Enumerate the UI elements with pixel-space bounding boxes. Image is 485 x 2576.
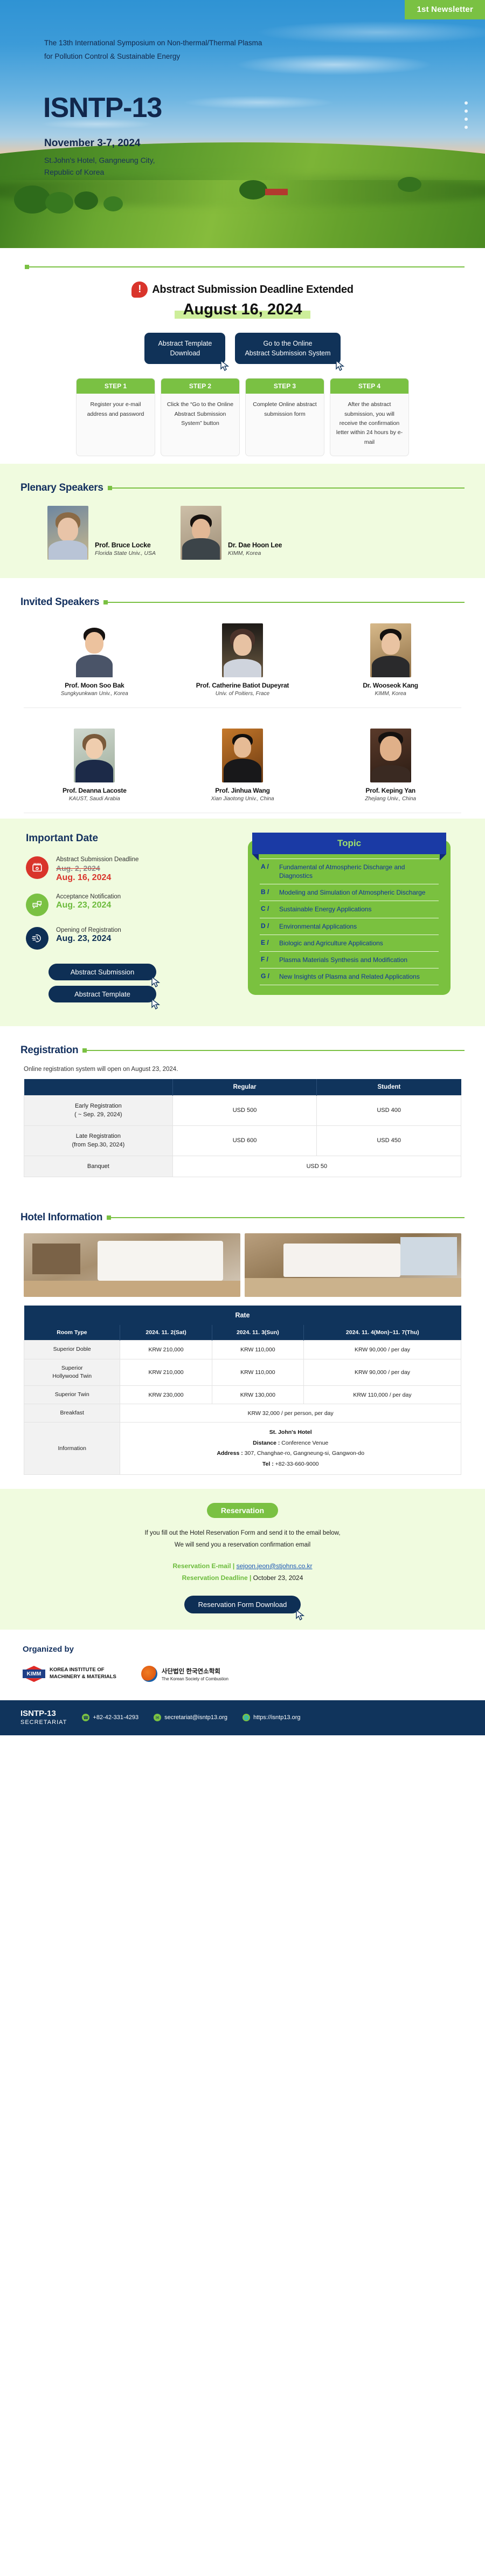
registration-table: Regular Student Early Registration( ~ Se… [24, 1079, 461, 1178]
topic-item: C / Sustainable Energy Applications [260, 901, 439, 917]
abstract-template-download-label-2: Download [170, 349, 200, 357]
table-row: Banquet USD 50 [24, 1156, 461, 1177]
topic-item: F / Plasma Materials Synthesis and Modif… [260, 951, 439, 968]
abstract-template-download-button[interactable]: Abstract Template Download [144, 333, 225, 364]
abstract-template-button[interactable]: Abstract Template [48, 986, 156, 1002]
hotel-col-sun: 2024. 11. 3(Sun) [212, 1325, 303, 1341]
invited-heading: Invited Speakers [20, 596, 99, 608]
step-card: STEP 3 Complete Online abstract submissi… [245, 378, 324, 456]
online-submission-label-1: Go to the Online [263, 340, 312, 347]
deadline-section: Abstract Submission Deadline Extended Au… [0, 248, 485, 464]
footer-brand-line2: SECRETARIAT [20, 1719, 67, 1727]
hotel-col-weekdays: 2024. 11. 4(Mon)~11. 7(Thu) [304, 1325, 461, 1341]
reservation-text-line1: If you fill out the Hotel Reservation Fo… [0, 1528, 485, 1540]
hotel-col-sat: 2024. 11. 2(Sat) [120, 1325, 212, 1341]
ksc-line1: 사단법인 한국연소학회 [162, 1667, 228, 1675]
registration-section: Registration Online registration system … [0, 1026, 485, 1178]
important-date-item: Abstract Submission Deadline Aug. 2, 202… [26, 856, 236, 883]
hotel-col-room-type: Room Type [24, 1325, 120, 1341]
speaker-photo [222, 623, 263, 677]
deadline-title: Abstract Submission Deadline Extended [152, 284, 353, 296]
table-header-row: Regular Student [24, 1079, 461, 1096]
organizers-heading: Organized by [23, 1645, 485, 1654]
important-date-old-value: Aug. 2, 2024 [56, 864, 138, 873]
topic-key: D / [261, 922, 274, 931]
invited-speaker-name: Prof. Catherine Batiot Dupeyrat [171, 682, 315, 689]
mouse-cursor-icon [336, 360, 344, 371]
page-title: ISNTP-13 [43, 92, 162, 124]
mouse-cursor-icon [296, 1610, 304, 1620]
abstract-template-label: Abstract Template [74, 990, 130, 998]
kimm-line2: MACHINERY & MATERIALS [50, 1674, 116, 1681]
deadline-buttons: Abstract Template Download Go to the Onl… [20, 333, 465, 364]
info-distance-key: Distance : [253, 1440, 281, 1446]
reservation-contact: Reservation E-mail | sejoon.jeon@stjohns… [0, 1560, 485, 1584]
footer-phone-value: +82-42-331-4293 [93, 1714, 138, 1721]
ksc-logo: 사단법인 한국연소학회 The Korean Society of Combus… [141, 1666, 228, 1682]
step-2-body: Click the “Go to the Online Abstract Sub… [161, 394, 239, 445]
invited-divider [24, 707, 461, 708]
table-header-row: Rate [24, 1306, 461, 1325]
speaker-photo [222, 729, 263, 782]
reservation-email-key: Reservation E-mail | [172, 1562, 236, 1570]
important-date-item: Opening of Registration Aug. 23, 2024 [26, 927, 236, 950]
envelope-icon: ✉ [154, 1714, 161, 1721]
invited-speaker-name: Prof. Deanna Lacoste [23, 787, 167, 794]
plenary-speaker-affiliation: KIMM, Korea [228, 550, 282, 557]
step-card: STEP 1 Register your e-mail address and … [76, 378, 155, 456]
invited-speaker-affiliation: Xian Jiaotong Univ., China [171, 796, 315, 802]
topic-column: Topic A / Fundamental of Atmospheric Dis… [241, 833, 457, 1008]
topic-key: B / [261, 888, 274, 897]
plenary-speaker-item: Prof. Bruce Locke Florida State Univ., U… [47, 506, 156, 560]
topic-value: Fundamental of Atmospheric Discharge and… [279, 863, 438, 880]
online-submission-label-2: Abstract Submission System [245, 349, 330, 357]
breakfast-label: Breakfast [24, 1404, 120, 1423]
topic-item: A / Fundamental of Atmospheric Discharge… [260, 858, 439, 884]
invited-divider [24, 813, 461, 813]
important-date-topic-section: Important Date Abstract Submission Deadl… [0, 819, 485, 1026]
hotel-room-type: Superior Doble [24, 1341, 120, 1359]
plenary-speakers-section: Plenary Speakers Prof. Bruce Locke Flori… [0, 464, 485, 578]
banquet-label: Banquet [24, 1156, 173, 1177]
hotel-rate-week: KRW 90,000 / per day [304, 1341, 461, 1359]
flame-icon [141, 1666, 157, 1682]
invited-speaker-item: Dr. Wooseok Kang KIMM, Korea [316, 620, 465, 704]
step-3-body: Complete Online abstract submission form [246, 394, 324, 445]
mouse-cursor-icon [151, 977, 160, 987]
reg-row-label: Late Registration(from Sep.30, 2024) [24, 1125, 173, 1156]
table-subheader-row: Room Type 2024. 11. 2(Sat) 2024. 11. 3(S… [24, 1325, 461, 1341]
breakfast-value: KRW 32,000 / per person, per day [120, 1404, 461, 1423]
topic-key: C / [261, 905, 274, 913]
reg-row-student: USD 400 [317, 1095, 461, 1125]
globe-icon: 🌐 [242, 1714, 250, 1721]
reservation-text-line2: We will send you a reservation confirmat… [0, 1540, 485, 1551]
registration-heading: Registration [20, 1045, 78, 1056]
step-4-head: STEP 4 [330, 379, 408, 394]
table-row: Early Registration( ~ Sep. 29, 2024) USD… [24, 1095, 461, 1125]
organizers-section: Organized by KIMM KOREA INSTITUTE OF MAC… [0, 1630, 485, 1700]
abstract-template-download-label-1: Abstract Template [158, 340, 212, 347]
plenary-speaker-item: Dr. Dae Hoon Lee KIMM, Korea [181, 506, 282, 560]
topic-value: Plasma Materials Synthesis and Modificat… [279, 956, 407, 964]
hotel-rate-sat: KRW 230,000 [120, 1385, 212, 1404]
invited-speaker-affiliation: Zhejiang Univ., China [318, 796, 462, 802]
info-address-value: 307, Changhae-ro, Gangneung-si, Gangwon-… [245, 1450, 364, 1457]
important-date-column: Important Date Abstract Submission Deadl… [20, 833, 236, 1008]
invited-speaker-item: Prof. Jinhua Wang Xian Jiaotong Univ., C… [169, 725, 317, 809]
hero-subtitle: The 13th International Symposium on Non-… [44, 37, 262, 64]
reg-col-student: Student [317, 1079, 461, 1096]
info-tel-value: +82-33-660-9000 [275, 1461, 319, 1467]
footer-website[interactable]: 🌐 https://isntp13.org [242, 1714, 300, 1721]
topic-key: F / [261, 956, 274, 964]
plenary-speaker-name: Dr. Dae Hoon Lee [228, 541, 282, 549]
footer-email[interactable]: ✉ secretariat@isntp13.org [154, 1714, 227, 1721]
information-value: St. John's Hotel Distance : Conference V… [120, 1423, 461, 1475]
reservation-email-link[interactable]: sejoon.jeon@stjohns.co.kr [237, 1562, 313, 1570]
chat-bubbles-icon [26, 894, 48, 916]
information-label: Information [24, 1423, 120, 1475]
hotel-room-photo [24, 1233, 240, 1297]
invited-speaker-affiliation: KIMM, Korea [318, 691, 462, 697]
topic-item: B / Modeling and Simulation of Atmospher… [260, 884, 439, 901]
topic-key: E / [261, 939, 274, 947]
phone-icon: ☎ [82, 1714, 89, 1721]
step-4-body: After the abstract submission, you will … [330, 394, 408, 456]
step-2-head: STEP 2 [161, 379, 239, 394]
hotel-rate-week: KRW 110,000 / per day [304, 1385, 461, 1404]
info-address-key: Address : [217, 1450, 244, 1457]
table-row: Superior Doble KRW 210,000 KRW 110,000 K… [24, 1341, 461, 1359]
kimm-mark-text: KIMM [23, 1670, 45, 1678]
step-3-head: STEP 3 [246, 379, 324, 394]
reservation-deadline-value: October 23, 2024 [253, 1574, 303, 1582]
speaker-photo [74, 623, 115, 677]
table-row: Information St. John's Hotel Distance : … [24, 1423, 461, 1475]
steps-list: STEP 1 Register your e-mail address and … [20, 378, 465, 461]
calendar-check-icon [26, 856, 48, 879]
newsletter-badge: 1st Newsletter [405, 0, 485, 19]
reg-row-label: Early Registration( ~ Sep. 29, 2024) [24, 1095, 173, 1125]
reg-row-student: USD 450 [317, 1125, 461, 1156]
invited-speaker-name: Prof. Moon Soo Bak [23, 682, 167, 689]
info-distance-value: Conference Venue [281, 1440, 328, 1446]
speaker-photo [181, 506, 221, 560]
hotel-information-section: Hotel Information Rate Room Type [0, 1193, 485, 1475]
reservation-section: Reservation If you fill out the Hotel Re… [0, 1489, 485, 1630]
invited-speaker-name: Prof. Jinhua Wang [171, 787, 315, 794]
hero-date: November 3-7, 2024 [44, 138, 141, 149]
hotel-rate-sun: KRW 110,000 [212, 1341, 303, 1359]
topic-value: Biologic and Agriculture Applications [279, 939, 383, 947]
table-row: Late Registration(from Sep.30, 2024) USD… [24, 1125, 461, 1156]
speaker-photo [370, 729, 411, 782]
ksc-line2: The Korean Society of Combustion [162, 1677, 228, 1681]
newsletter-page: 1st Newsletter The 13th International Sy… [0, 0, 485, 1735]
reservation-chip: Reservation [207, 1503, 278, 1518]
step-card: STEP 4 After the abstract submission, yo… [330, 378, 409, 456]
mouse-cursor-icon [220, 360, 229, 371]
page-footer: ISNTP-13 SECRETARIAT ☎ +82-42-331-4293 ✉… [0, 1700, 485, 1735]
hotel-heading: Hotel Information [20, 1212, 102, 1224]
abstract-submission-label: Abstract Submission [71, 968, 135, 976]
invited-row-2: Prof. Deanna Lacoste KAUST, Saudi Arabia… [20, 713, 465, 809]
step-card: STEP 2 Click the “Go to the Online Abstr… [161, 378, 240, 456]
hotel-rate-sat: KRW 210,000 [120, 1341, 212, 1359]
topic-value: Sustainable Energy Applications [279, 905, 371, 913]
info-hotel-name: St. John's Hotel [269, 1429, 312, 1435]
important-date-heading: Important Date [26, 833, 236, 844]
hotel-rate-sun: KRW 110,000 [212, 1359, 303, 1385]
topic-key: G / [261, 972, 274, 981]
topic-value: Modeling and Simulation of Atmospheric D… [279, 888, 425, 897]
hero-venue: St.John's Hotel, Gangneung City, Republi… [44, 155, 155, 178]
plenary-heading: Plenary Speakers [20, 482, 103, 494]
hero-subtitle-line2: for Pollution Control & Sustainable Ener… [44, 50, 262, 64]
topic-value: Environmental Applications [279, 922, 357, 931]
step-1-head: STEP 1 [77, 379, 155, 394]
table-row: SuperiorHollywood Twin KRW 210,000 KRW 1… [24, 1359, 461, 1385]
hero-subtitle-line1: The 13th International Symposium on Non-… [44, 37, 262, 50]
footer-email-value: secretariat@isntp13.org [164, 1714, 227, 1721]
step-1-body: Register your e-mail address and passwor… [77, 394, 155, 445]
topic-heading: Topic [252, 833, 446, 854]
rate-header: Rate [24, 1306, 461, 1325]
hotel-rate-sat: KRW 210,000 [120, 1359, 212, 1385]
important-date-label: Acceptance Notification [56, 894, 121, 900]
topic-item: G / New Insights of Plasma and Related A… [260, 968, 439, 985]
reg-col-regular: Regular [172, 1079, 317, 1096]
hotel-rate-sun: KRW 130,000 [212, 1385, 303, 1404]
important-date-label: Abstract Submission Deadline [56, 856, 138, 863]
online-submission-system-button[interactable]: Go to the Online Abstract Submission Sys… [235, 333, 340, 364]
footer-website-value: https://isntp13.org [253, 1714, 300, 1721]
hotel-rate-week: KRW 90,000 / per day [304, 1359, 461, 1385]
hero-venue-line2: Republic of Korea [44, 167, 155, 178]
hotel-room-photo [245, 1233, 461, 1297]
invited-row-1: Prof. Moon Soo Bak Sungkyunkwan Univ., K… [20, 608, 465, 704]
important-date-new-value: Aug. 16, 2024 [56, 873, 138, 883]
alert-exclamation-icon [131, 281, 148, 298]
hotel-room-photos [24, 1233, 461, 1297]
speaker-photo [47, 506, 88, 560]
table-row: Breakfast KRW 32,000 / per person, per d… [24, 1404, 461, 1423]
reg-row-regular: USD 600 [172, 1125, 317, 1156]
deadline-date: August 16, 2024 [175, 301, 311, 320]
invited-speaker-item: Prof. Deanna Lacoste KAUST, Saudi Arabia [20, 725, 169, 809]
topic-item: D / Environmental Applications [260, 918, 439, 935]
important-date-item: Acceptance Notification Aug. 23, 2024 [26, 894, 236, 916]
reservation-form-download-button[interactable]: Reservation Form Download [184, 1596, 301, 1613]
invited-speaker-item: Prof. Keping Yan Zhejiang Univ., China [316, 725, 465, 809]
kimm-hex-icon: KIMM [23, 1666, 45, 1682]
invited-speakers-section: Invited Speakers Prof. Moon Soo Bak Sung… [0, 578, 485, 813]
abstract-submission-button[interactable]: Abstract Submission [48, 964, 156, 980]
important-date-label: Opening of Registration [56, 927, 121, 933]
topic-item: E / Biologic and Agriculture Application… [260, 935, 439, 951]
carousel-dots[interactable] [465, 101, 468, 134]
reg-row-regular: USD 500 [172, 1095, 317, 1125]
hero-venue-line1: St.John's Hotel, Gangneung City, [44, 155, 155, 167]
info-tel-key: Tel : [262, 1461, 275, 1467]
invited-speaker-item: Prof. Moon Soo Bak Sungkyunkwan Univ., K… [20, 620, 169, 704]
kimm-line1: KOREA INSTITUTE OF [50, 1667, 116, 1674]
important-date-new-value: Aug. 23, 2024 [56, 934, 121, 944]
deadline-section-rule [20, 248, 465, 267]
reservation-form-download-label: Reservation Form Download [198, 1600, 287, 1609]
hotel-rate-table: Rate Room Type 2024. 11. 2(Sat) 2024. 11… [24, 1306, 461, 1475]
footer-brand-line1: ISNTP-13 [20, 1709, 67, 1719]
mouse-cursor-icon [151, 999, 160, 1009]
topic-list: A / Fundamental of Atmospheric Discharge… [248, 840, 451, 995]
reservation-text: If you fill out the Hotel Reservation Fo… [0, 1528, 485, 1551]
registration-note: Online registration system will open on … [20, 1056, 465, 1079]
clock-icon [26, 927, 48, 950]
hotel-room-type: Superior Twin [24, 1385, 120, 1404]
footer-brand: ISNTP-13 SECRETARIAT [20, 1709, 67, 1727]
hotel-room-type: SuperiorHollywood Twin [24, 1359, 120, 1385]
banquet-value: USD 50 [172, 1156, 461, 1177]
table-row: Superior Twin KRW 230,000 KRW 130,000 KR… [24, 1385, 461, 1404]
topic-key: A / [261, 863, 274, 880]
topic-value: New Insights of Plasma and Related Appli… [279, 972, 420, 981]
speaker-photo [370, 623, 411, 677]
invited-speaker-affiliation: Sungkyunkwan Univ., Korea [23, 691, 167, 697]
hero-banner: 1st Newsletter The 13th International Sy… [0, 0, 485, 248]
plenary-speaker-name: Prof. Bruce Locke [95, 541, 156, 549]
kimm-logo: KIMM KOREA INSTITUTE OF MACHINERY & MATE… [23, 1666, 116, 1682]
footer-phone: ☎ +82-42-331-4293 [82, 1714, 138, 1721]
invited-speaker-item: Prof. Catherine Batiot Dupeyrat Univ. of… [169, 620, 317, 704]
invited-speaker-affiliation: Univ. of Poitiers, Frace [171, 691, 315, 697]
reservation-deadline-key: Reservation Deadline | [182, 1574, 253, 1582]
plenary-speaker-affiliation: Florida State Univ., USA [95, 550, 156, 557]
important-date-new-value: Aug. 23, 2024 [56, 901, 121, 910]
reg-col-blank [24, 1079, 173, 1096]
invited-speaker-name: Prof. Keping Yan [318, 787, 462, 794]
invited-speaker-affiliation: KAUST, Saudi Arabia [23, 796, 167, 802]
speaker-photo [74, 729, 115, 782]
invited-speaker-name: Dr. Wooseok Kang [318, 682, 462, 689]
